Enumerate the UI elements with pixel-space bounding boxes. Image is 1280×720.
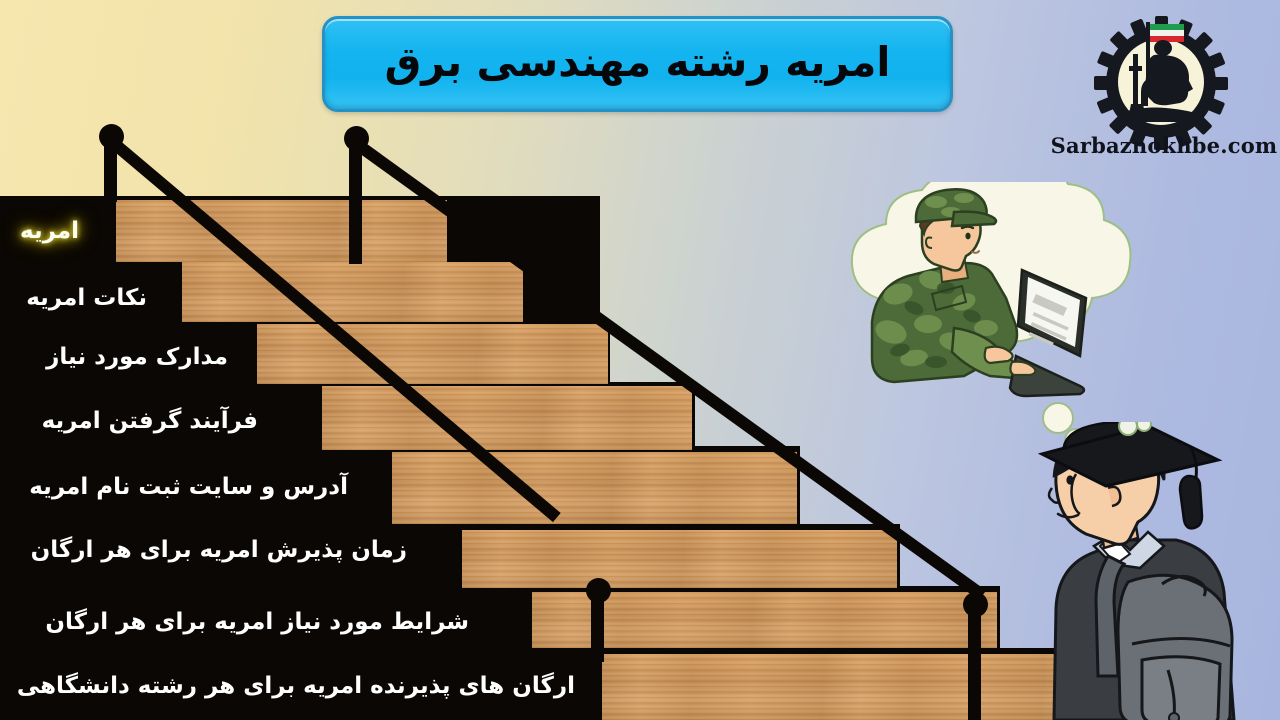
- stair-tread-3: [257, 324, 608, 384]
- page-title-banner: امریه رشته مهندسی برق: [322, 16, 953, 112]
- iran-flag-icon: [1150, 24, 1184, 42]
- list-item-7[interactable]: ارگان های پذیرنده امریه برای هر رشته دان…: [17, 675, 575, 698]
- list-item-4[interactable]: آدرس و سایت ثبت نام امریه: [29, 476, 348, 499]
- list-item-2[interactable]: مدارک مورد نیاز: [46, 346, 228, 369]
- thought-bubble-with-soldier: [836, 182, 1156, 462]
- graduate-student-figure: [1012, 422, 1280, 720]
- list-item-1[interactable]: نکات امریه: [26, 287, 147, 310]
- railing-post-4: [968, 606, 981, 720]
- list-heading: امریه: [20, 218, 79, 244]
- stair-tread-1: [116, 200, 447, 262]
- list-item-6[interactable]: شرایط مورد نیاز امریه برای هر ارگان: [45, 611, 469, 634]
- page-title: امریه رشته مهندسی برق: [385, 42, 891, 83]
- railing-finial-3: [586, 578, 611, 603]
- stair-tread-2: [182, 262, 523, 322]
- railing-post-2: [349, 140, 362, 264]
- list-item-5[interactable]: زمان پذیرش امریه برای هر ارگان: [31, 539, 407, 562]
- stair-tread-5: [392, 452, 797, 524]
- site-name: Sarbaznokhbe.com: [1049, 133, 1279, 158]
- list-item-3[interactable]: فرآیند گرفتن امریه: [42, 410, 258, 433]
- poster-canvas: امریه رشته مهندسی برق: [0, 0, 1280, 720]
- backpack-icon: [1118, 575, 1232, 720]
- stair-tread-6: [462, 530, 897, 588]
- stair-tread-4: [322, 386, 692, 450]
